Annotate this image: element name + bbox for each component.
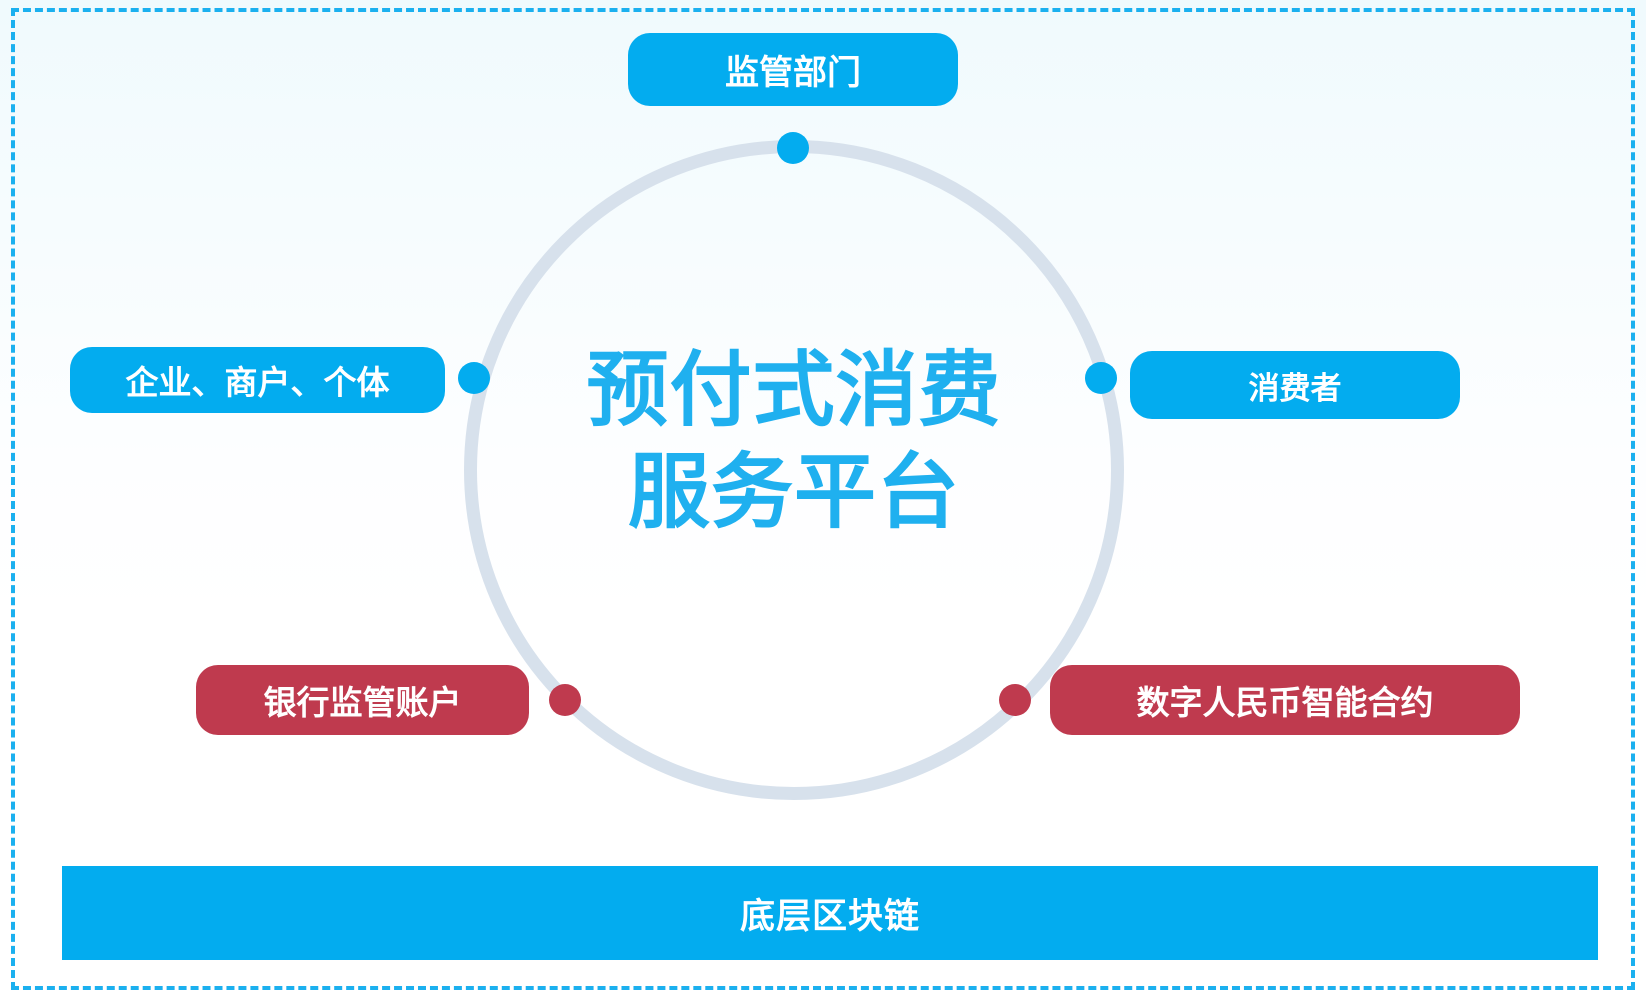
foundation-blockchain-label: 底层区块链 <box>740 888 920 939</box>
node-dot-consumers <box>1085 362 1117 394</box>
node-dot-bank-account <box>549 684 581 716</box>
badge-regulator[interactable]: 监管部门 <box>628 33 958 106</box>
badge-merchants-label: 企业、商户、个体 <box>126 356 390 404</box>
platform-title-line-2: 服务平台 <box>494 442 1094 544</box>
foundation-blockchain-bar[interactable]: 底层区块链 <box>62 866 1598 960</box>
node-dot-regulator <box>777 132 809 164</box>
diagram-canvas: 预付式消费 服务平台 监管部门 企业、商户、个体 消费者 银行监管账户 数字人民… <box>0 0 1646 1000</box>
platform-title-line-1: 预付式消费 <box>494 340 1094 442</box>
platform-title: 预付式消费 服务平台 <box>494 340 1094 543</box>
node-dot-smart-contract <box>999 684 1031 716</box>
badge-consumers[interactable]: 消费者 <box>1130 351 1460 419</box>
badge-consumers-label: 消费者 <box>1249 363 1342 408</box>
badge-regulator-label: 监管部门 <box>725 45 861 94</box>
node-dot-merchants <box>458 362 490 394</box>
badge-bank-account-label: 银行监管账户 <box>264 676 462 724</box>
badge-merchants[interactable]: 企业、商户、个体 <box>70 347 445 413</box>
badge-bank-account[interactable]: 银行监管账户 <box>196 665 529 735</box>
badge-smart-contract[interactable]: 数字人民币智能合约 <box>1050 665 1520 735</box>
badge-smart-contract-label: 数字人民币智能合约 <box>1137 676 1434 724</box>
